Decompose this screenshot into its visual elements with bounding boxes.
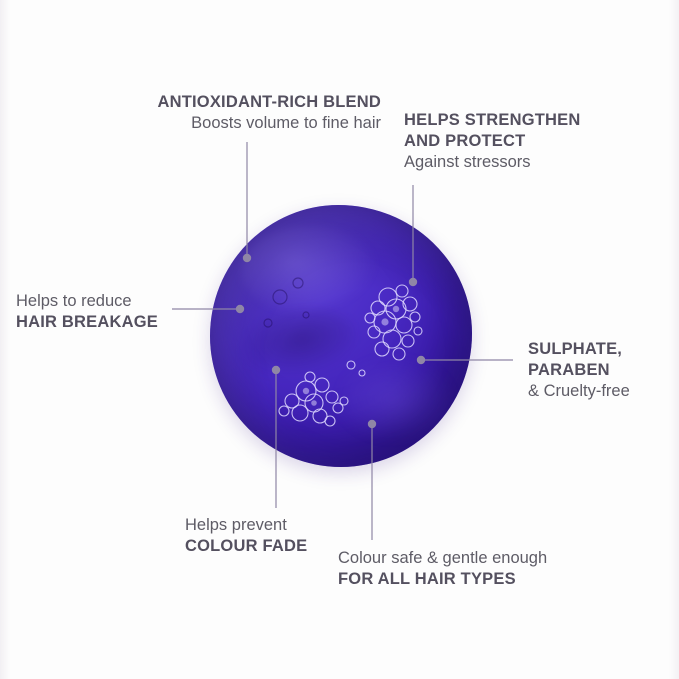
callout-all-hair-types-line2: FOR ALL HAIR TYPES <box>338 569 638 590</box>
callout-antioxidant: ANTIOXIDANT-RICH BLEND Boosts volume to … <box>86 92 381 134</box>
purple-gel-blob <box>210 205 472 467</box>
callout-hair-breakage-line1: Helps to reduce <box>16 291 196 312</box>
callout-all-hair-types: Colour safe & gentle enough FOR ALL HAIR… <box>338 548 638 590</box>
callout-sulphate-line1: SULPHATE, <box>528 339 678 360</box>
callout-all-hair-types-line1: Colour safe & gentle enough <box>338 548 638 569</box>
callout-sulphate-line2: PARABEN <box>528 360 678 381</box>
callout-strengthen-line3: Against stressors <box>404 152 634 173</box>
callout-colour-fade-line1: Helps prevent <box>185 515 365 536</box>
callout-antioxidant-line2: Boosts volume to fine hair <box>86 113 381 134</box>
product-benefits-infographic: ANTIOXIDANT-RICH BLEND Boosts volume to … <box>0 0 679 679</box>
callout-strengthen-line2: AND PROTECT <box>404 131 634 152</box>
callout-strengthen-line1: HELPS STRENGTHEN <box>404 110 634 131</box>
callout-sulphate-line3: & Cruelty-free <box>528 381 678 402</box>
callout-hair-breakage-line2: HAIR BREAKAGE <box>16 312 196 333</box>
callout-strengthen: HELPS STRENGTHEN AND PROTECT Against str… <box>404 110 634 173</box>
product-swatch <box>210 205 472 467</box>
callout-antioxidant-line1: ANTIOXIDANT-RICH BLEND <box>86 92 381 113</box>
callout-hair-breakage: Helps to reduce HAIR BREAKAGE <box>16 291 196 333</box>
callout-sulphate-paraben: SULPHATE, PARABEN & Cruelty-free <box>528 339 678 402</box>
foam-bubbles <box>210 205 472 467</box>
